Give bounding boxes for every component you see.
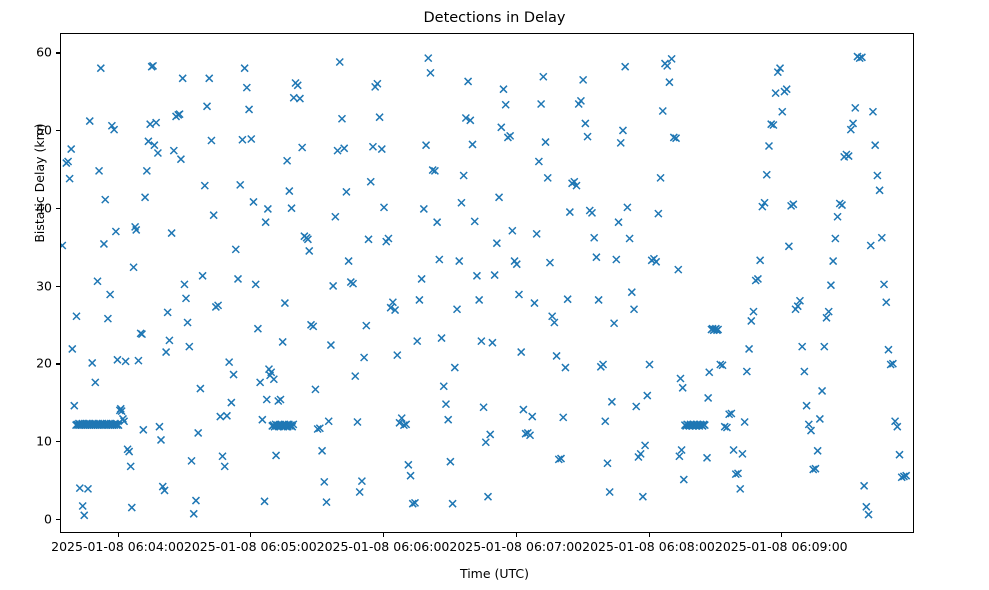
y-axis-label-wrap: Bistatic Delay (km) — [14, 0, 34, 590]
x-tick-label: 2025-01-08 06:07:00 — [449, 539, 582, 554]
x-tick-label: 2025-01-08 06:05:00 — [184, 539, 317, 554]
y-axis-label: Bistatic Delay (km) — [32, 83, 47, 283]
x-tick-label: 2025-01-08 06:08:00 — [582, 539, 715, 554]
x-tick-mark — [516, 533, 517, 537]
x-tick-mark — [250, 533, 251, 537]
x-tick-mark — [649, 533, 650, 537]
x-tick-mark — [118, 533, 119, 537]
x-tick-label: 2025-01-08 06:09:00 — [715, 539, 848, 554]
x-tick-label: 2025-01-08 06:04:00 — [51, 539, 184, 554]
scatter-layer — [61, 34, 914, 533]
x-axis-label: Time (UTC) — [0, 566, 989, 581]
x-tick-label: 2025-01-08 06:06:00 — [317, 539, 450, 554]
plot-area — [60, 33, 914, 533]
x-tick-mark — [383, 533, 384, 537]
page-title: Detections in Delay — [0, 10, 989, 26]
figure-canvas: Detections in Delay 0102030405060 2025-0… — [0, 0, 989, 590]
x-tick-mark — [781, 533, 782, 537]
